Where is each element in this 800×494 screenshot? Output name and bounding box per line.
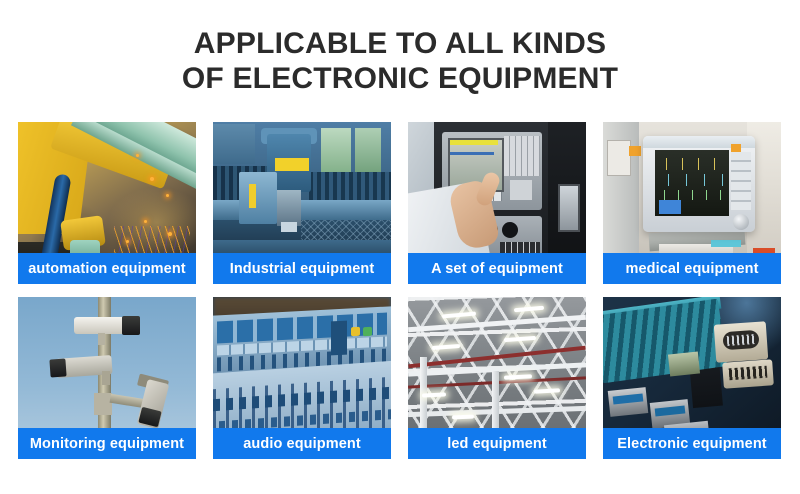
card-led-equipment[interactable]: led equipment [408, 297, 586, 459]
card-monitoring-equipment[interactable]: Monitoring equipment [18, 297, 196, 459]
card-electronic-equipment[interactable]: Electronic equipment [603, 297, 781, 459]
card-label-industrial: Industrial equipment [213, 253, 391, 284]
card-industrial-equipment[interactable]: Industrial equipment [213, 122, 391, 284]
card-label-electronic: Electronic equipment [603, 428, 781, 459]
equipment-card-grid: automation equipment Industrial equipmen… [18, 122, 782, 459]
card-audio-equipment[interactable]: audio equipment [213, 297, 391, 459]
card-label-medical: medical equipment [603, 253, 781, 284]
page-title-line-2: OF ELECTRONIC EQUIPMENT [0, 61, 800, 96]
card-medical-equipment[interactable]: medical equipment [603, 122, 781, 284]
card-label-automation: automation equipment [18, 253, 196, 284]
card-label-monitoring: Monitoring equipment [18, 428, 196, 459]
card-label-a-set-of-equipment: A set of equipment [408, 253, 586, 284]
page-title-line-1: APPLICABLE TO ALL KINDS [0, 26, 800, 61]
page-title: APPLICABLE TO ALL KINDS OF ELECTRONIC EQ… [0, 0, 800, 97]
promo-banner: APPLICABLE TO ALL KINDS OF ELECTRONIC EQ… [0, 0, 800, 494]
card-label-led: led equipment [408, 428, 586, 459]
card-automation-equipment[interactable]: automation equipment [18, 122, 196, 284]
card-a-set-of-equipment[interactable]: A set of equipment [408, 122, 586, 284]
card-label-audio: audio equipment [213, 428, 391, 459]
